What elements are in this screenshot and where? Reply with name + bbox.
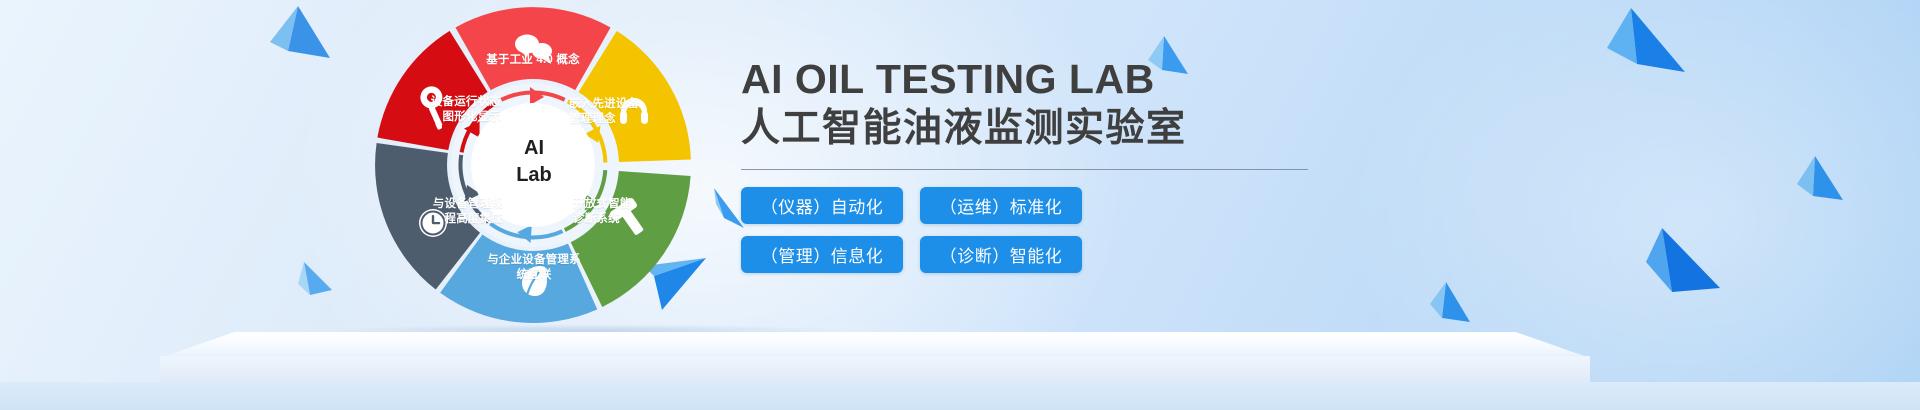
decor-triangle-7	[1797, 156, 1843, 210]
wheel-label-top: 基于工业 4.0 概念	[475, 53, 591, 68]
feature-tag-instrument[interactable]: （仪器）自动化	[741, 187, 903, 224]
wheel-label-upper-right: 嵌入先进设备 管理理念	[569, 97, 653, 126]
decor-triangle-5	[1607, 8, 1685, 94]
headline-divider	[741, 169, 1308, 170]
pedestal-face	[160, 356, 1590, 384]
wheel-center-line1: AI	[506, 135, 562, 162]
banner-root: AI Lab 基于工业 4.0 概念 嵌入先进设备 管理理念 开放式智能 诊断系…	[0, 0, 1920, 410]
decor-triangle-1	[270, 6, 330, 74]
title-english: AI OIL TESTING LAB	[741, 54, 1361, 104]
feature-tag-management[interactable]: （管理）信息化	[741, 236, 903, 273]
feature-tag-list: （仪器）自动化 （运维）标准化 （管理）信息化 （诊断）智能化	[741, 187, 1086, 273]
wheel-label-bottom: 与企业设备管理系 统互联	[471, 253, 597, 282]
wheel-label-lower-left: 与设备管理规 程高度集成	[409, 197, 503, 226]
wheel-center-label: AI Lab	[506, 135, 562, 189]
wheel-label-lower-right: 开放式智能 诊断系统	[573, 197, 649, 226]
ai-lab-wheel-diagram: AI Lab 基于工业 4.0 概念 嵌入先进设备 管理理念 开放式智能 诊断系…	[373, 5, 693, 325]
feature-tag-diagnosis[interactable]: （诊断）智能化	[920, 236, 1082, 273]
wheel-label-upper-left: 设备运行状态 图形化显示	[405, 95, 501, 124]
wheel-center-line2: Lab	[506, 162, 562, 189]
pedestal-base	[0, 382, 1920, 410]
title-chinese: 人工智能油液监测实验室	[741, 104, 1361, 154]
headline-block: AI OIL TESTING LAB 人工智能油液监测实验室 （仪器）自动化 （…	[741, 54, 1361, 273]
pedestal	[0, 260, 1920, 410]
pedestal-top	[160, 332, 1590, 358]
feature-tag-operations[interactable]: （运维）标准化	[920, 187, 1082, 224]
